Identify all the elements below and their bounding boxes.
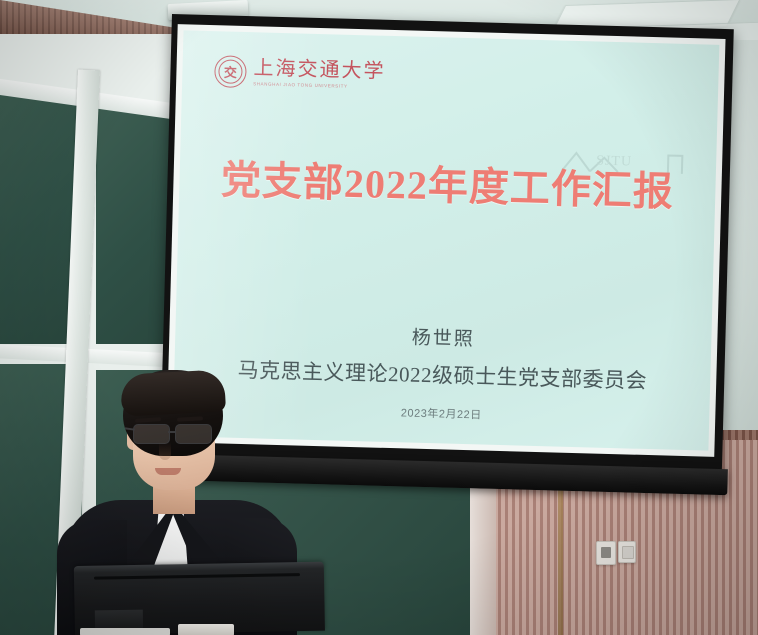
university-name-cn: 上海交通大学 bbox=[253, 58, 385, 82]
eyeglass-lens-right bbox=[175, 424, 212, 444]
university-name-en: SHANGHAI JIAO TONG UNIVERSITY bbox=[253, 81, 385, 90]
eyeglasses-icon bbox=[131, 424, 223, 444]
seal-glyph: 交 bbox=[224, 62, 238, 81]
university-logo: 交 上海交通大学 SHANGHAI JIAO TONG UNIVERSITY bbox=[214, 55, 386, 92]
university-seal-icon: 交 bbox=[214, 55, 247, 88]
switch-plate[interactable] bbox=[618, 541, 636, 563]
monitor-base bbox=[80, 628, 170, 635]
desk-item bbox=[178, 624, 234, 635]
presenter-hair-fringe bbox=[120, 369, 226, 416]
monitor-vent-groove bbox=[94, 573, 300, 580]
eyeglass-lens-left bbox=[133, 424, 170, 444]
slide-presenter-name: 杨世照 bbox=[175, 316, 712, 357]
presenter-nose bbox=[159, 442, 171, 460]
eyeglass-bridge bbox=[168, 431, 176, 433]
presenter-mouth bbox=[155, 468, 181, 475]
power-outlet-plate[interactable] bbox=[596, 541, 616, 565]
classroom-photo-scene: 交 上海交通大学 SHANGHAI JIAO TONG UNIVERSITY S… bbox=[0, 0, 758, 635]
